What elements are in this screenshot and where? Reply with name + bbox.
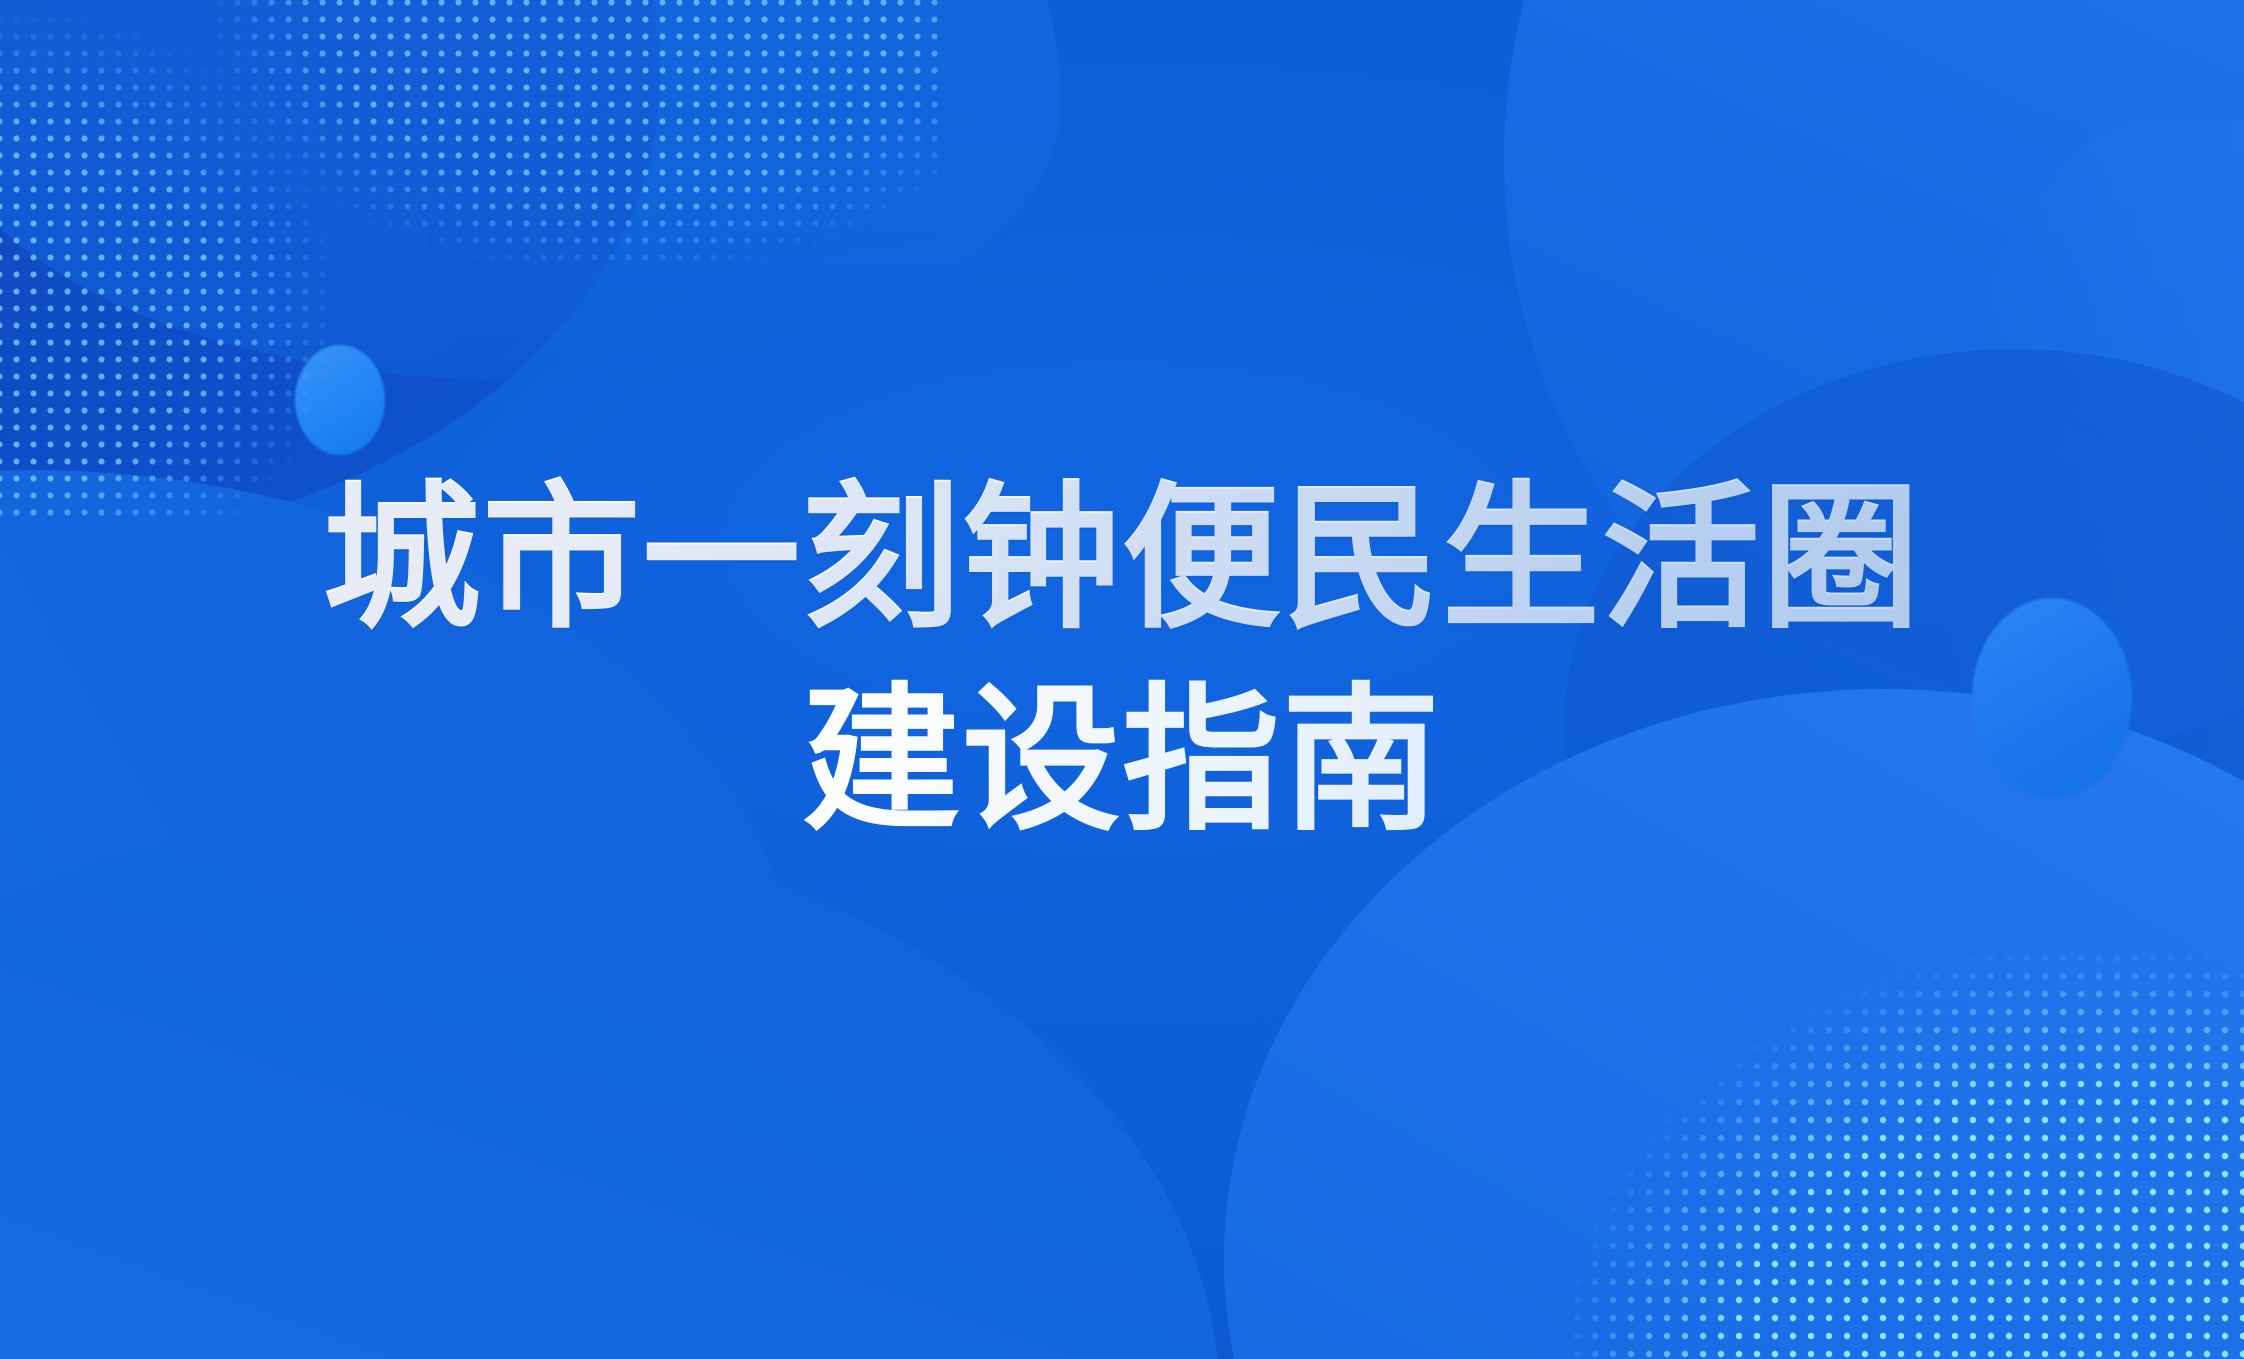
poster-banner: 城市一刻钟便民生活圈 建设指南 (0, 0, 2244, 1359)
page-title: 城市一刻钟便民生活圈 建设指南 (0, 466, 2244, 855)
title-line-secondary: 建设指南 (0, 668, 2244, 854)
title-line-primary: 城市一刻钟便民生活圈 (0, 466, 2244, 652)
